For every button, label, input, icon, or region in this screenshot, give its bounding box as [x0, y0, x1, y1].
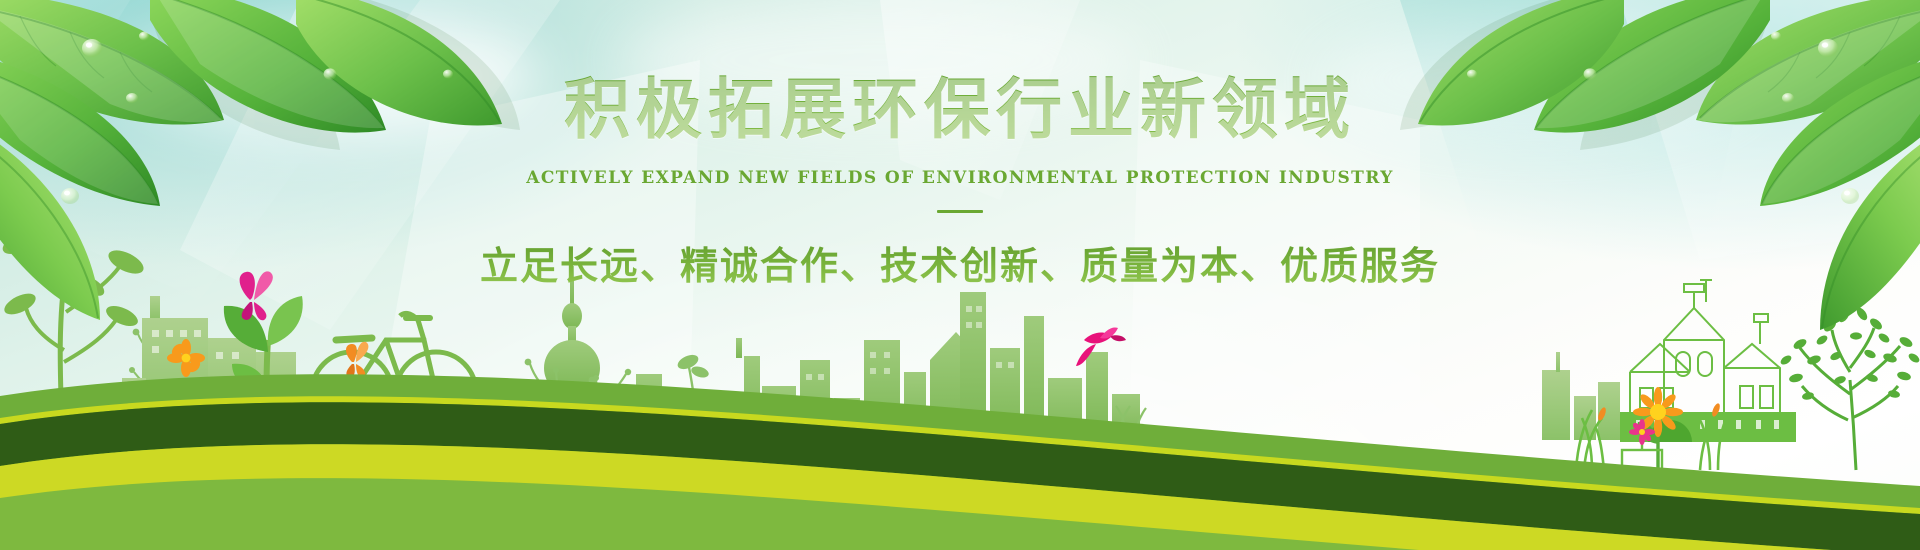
eco-banner: 积极拓展环保行业新领域 ACTIVELY EXPAND NEW FIELDS O… [0, 0, 1920, 550]
leaves-top-right [0, 0, 1920, 550]
